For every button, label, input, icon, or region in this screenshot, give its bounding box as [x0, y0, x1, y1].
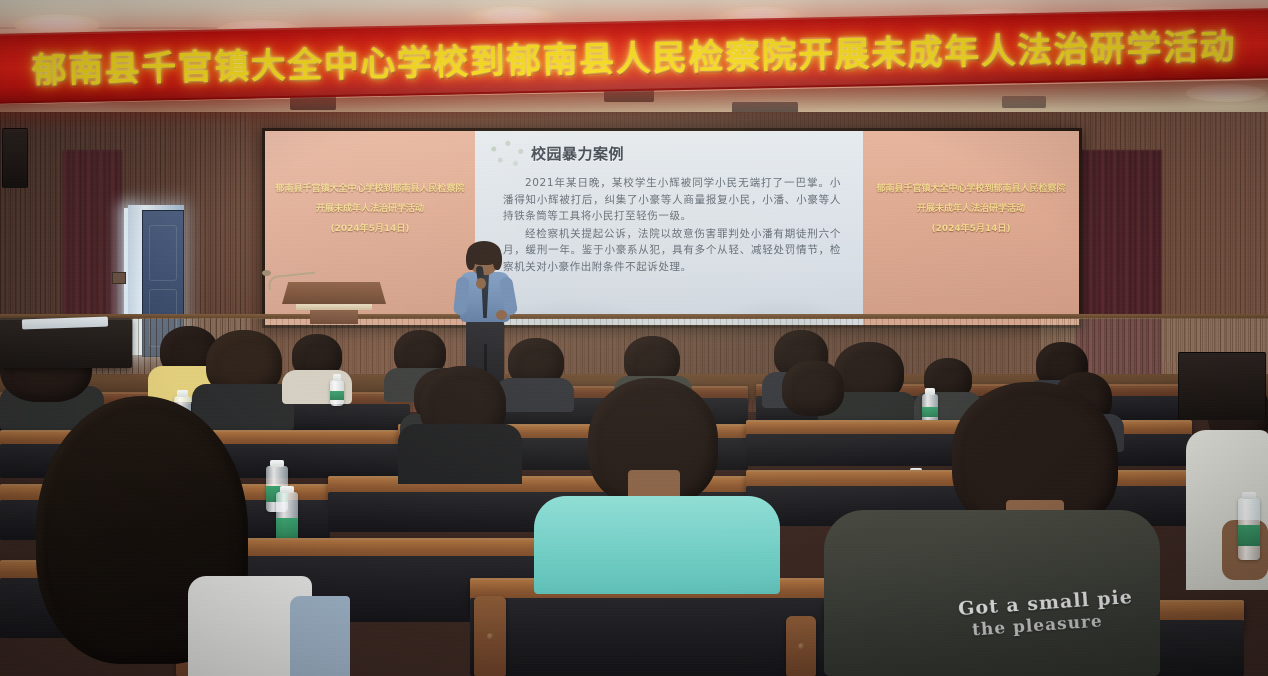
- wall-speaker: [2, 128, 28, 188]
- side-panel-right-line1: 郁南县千官镇大全中心学校到郁南县人民检察院: [868, 179, 1074, 199]
- light-switch[interactable]: [112, 272, 126, 284]
- slide-paragraph-1: 2021年某日晚，某校学生小辉被同学小民无端打了一巴掌。小潘得知小辉被打后，纠集…: [503, 175, 841, 225]
- audience-body: [192, 384, 294, 430]
- water-bottle: [1238, 498, 1260, 560]
- av-equipment: [1178, 352, 1266, 420]
- audience-body: [496, 378, 574, 412]
- slide-branch-decoration: [483, 137, 537, 177]
- side-panel-left-line2: 开展未成年人法治研学活动: [270, 199, 470, 219]
- slide-title: 校园暴力案例: [531, 143, 624, 164]
- side-panel-right-line3: (2024年5月14日): [868, 219, 1074, 239]
- microphone-head-icon: [262, 270, 271, 276]
- student-graphic-tee: [824, 510, 1160, 676]
- water-bottle: [330, 380, 344, 406]
- slide-content: 校园暴力案例 2021年某日晚，某校学生小辉被同学小民无端打了一巴掌。小潘得知小…: [475, 131, 863, 325]
- seat-armrest: [786, 616, 816, 676]
- seat-armrest: [474, 596, 506, 676]
- student-teal-shirt: [534, 496, 780, 594]
- auditorium-photo: 郁南县千官镇大全中心学校到郁南县人民检察院 开展未成年人法治研学活动 (2024…: [0, 0, 1268, 676]
- audience-head: [782, 360, 844, 416]
- slide-paragraph-2: 经检察机关提起公诉，法院以故意伤害罪判处小潘有期徒刑六个月，缓刑一年。鉴于小豪系…: [503, 226, 841, 276]
- audience-body: [290, 596, 350, 676]
- side-panel-left-line1: 郁南县千官镇大全中心学校到郁南县人民检察院: [270, 179, 470, 199]
- side-panel-left-line3: (2024年5月14日): [270, 219, 470, 239]
- curtain-left: [62, 150, 122, 330]
- side-panel-right-line2: 开展未成年人法治研学活动: [868, 199, 1074, 219]
- audience-body: [398, 424, 522, 484]
- slide-body: 2021年某日晚，某校学生小辉被同学小民无端打了一巴掌。小潘得知小辉被打后，纠集…: [503, 175, 841, 276]
- podium: [282, 282, 386, 318]
- seat-back: [470, 598, 830, 676]
- screen-side-panel-right: 郁南县千官镇大全中心学校到郁南县人民检察院 开展未成年人法治研学活动 (2024…: [863, 131, 1079, 325]
